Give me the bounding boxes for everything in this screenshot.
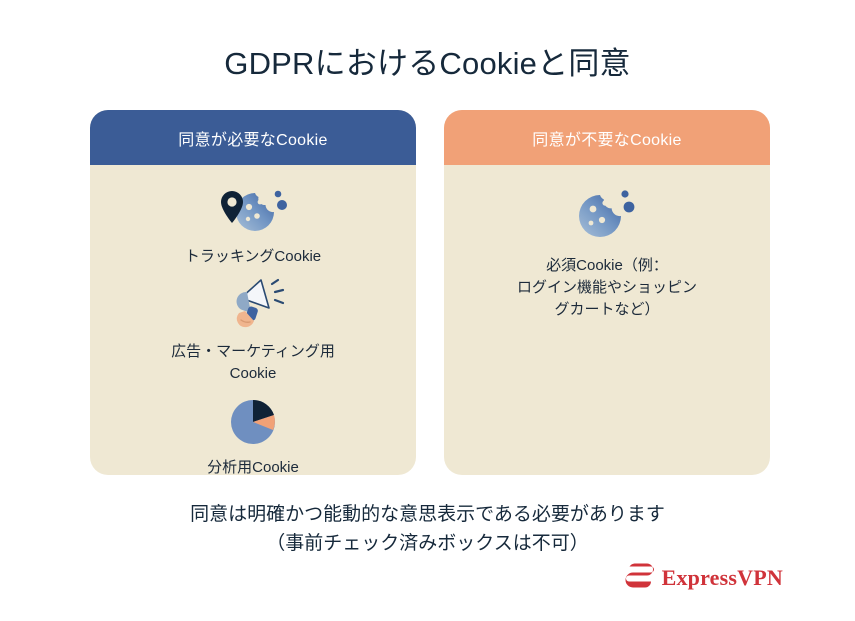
location-pin-cookie-icon [215, 183, 291, 239]
expressvpn-mark-icon [625, 562, 655, 594]
panel-consent-required: 同意が必要なCookie [90, 110, 416, 475]
panel-body-consent-required: トラッキングCookie [90, 165, 416, 475]
page-title: GDPRにおけるCookieと同意 [0, 38, 855, 83]
list-item: 必須Cookie（例： ログイン機能やショッピン グカートなど） [458, 187, 756, 320]
list-item: 分析用Cookie （匿名化されていない場合） [104, 394, 402, 475]
panel-header-consent-required: 同意が必要なCookie [90, 110, 416, 165]
panel-header-consent-not-required: 同意が不要なCookie [444, 110, 770, 165]
expressvpn-logo: ExpressVPN [625, 562, 783, 594]
cookie-icon [576, 187, 638, 243]
list-item-label: 分析用Cookie （匿名化されていない場合） [156, 457, 351, 475]
list-item-label: トラッキングCookie [185, 246, 321, 268]
list-item-label: 必須Cookie（例： ログイン機能やショッピン グカートなど） [517, 255, 697, 320]
panel-body-consent-not-required: 必須Cookie（例： ログイン機能やショッピン グカートなど） [444, 165, 770, 475]
expressvpn-wordmark: ExpressVPN [662, 565, 783, 591]
list-item: 広告・マーケティング用 Cookie [104, 278, 402, 385]
megaphone-icon [217, 278, 289, 334]
panel-consent-not-required: 同意が不要なCookie [444, 110, 770, 475]
list-item: トラッキングCookie [104, 183, 402, 268]
list-item-label: 広告・マーケティング用 Cookie [171, 341, 335, 385]
comparison-panels: 同意が必要なCookie [90, 110, 770, 475]
pie-chart-icon [225, 394, 281, 450]
footer-note: 同意は明確かつ能動的な意思表示である必要があります （事前チェック済みボックスは… [0, 500, 855, 559]
